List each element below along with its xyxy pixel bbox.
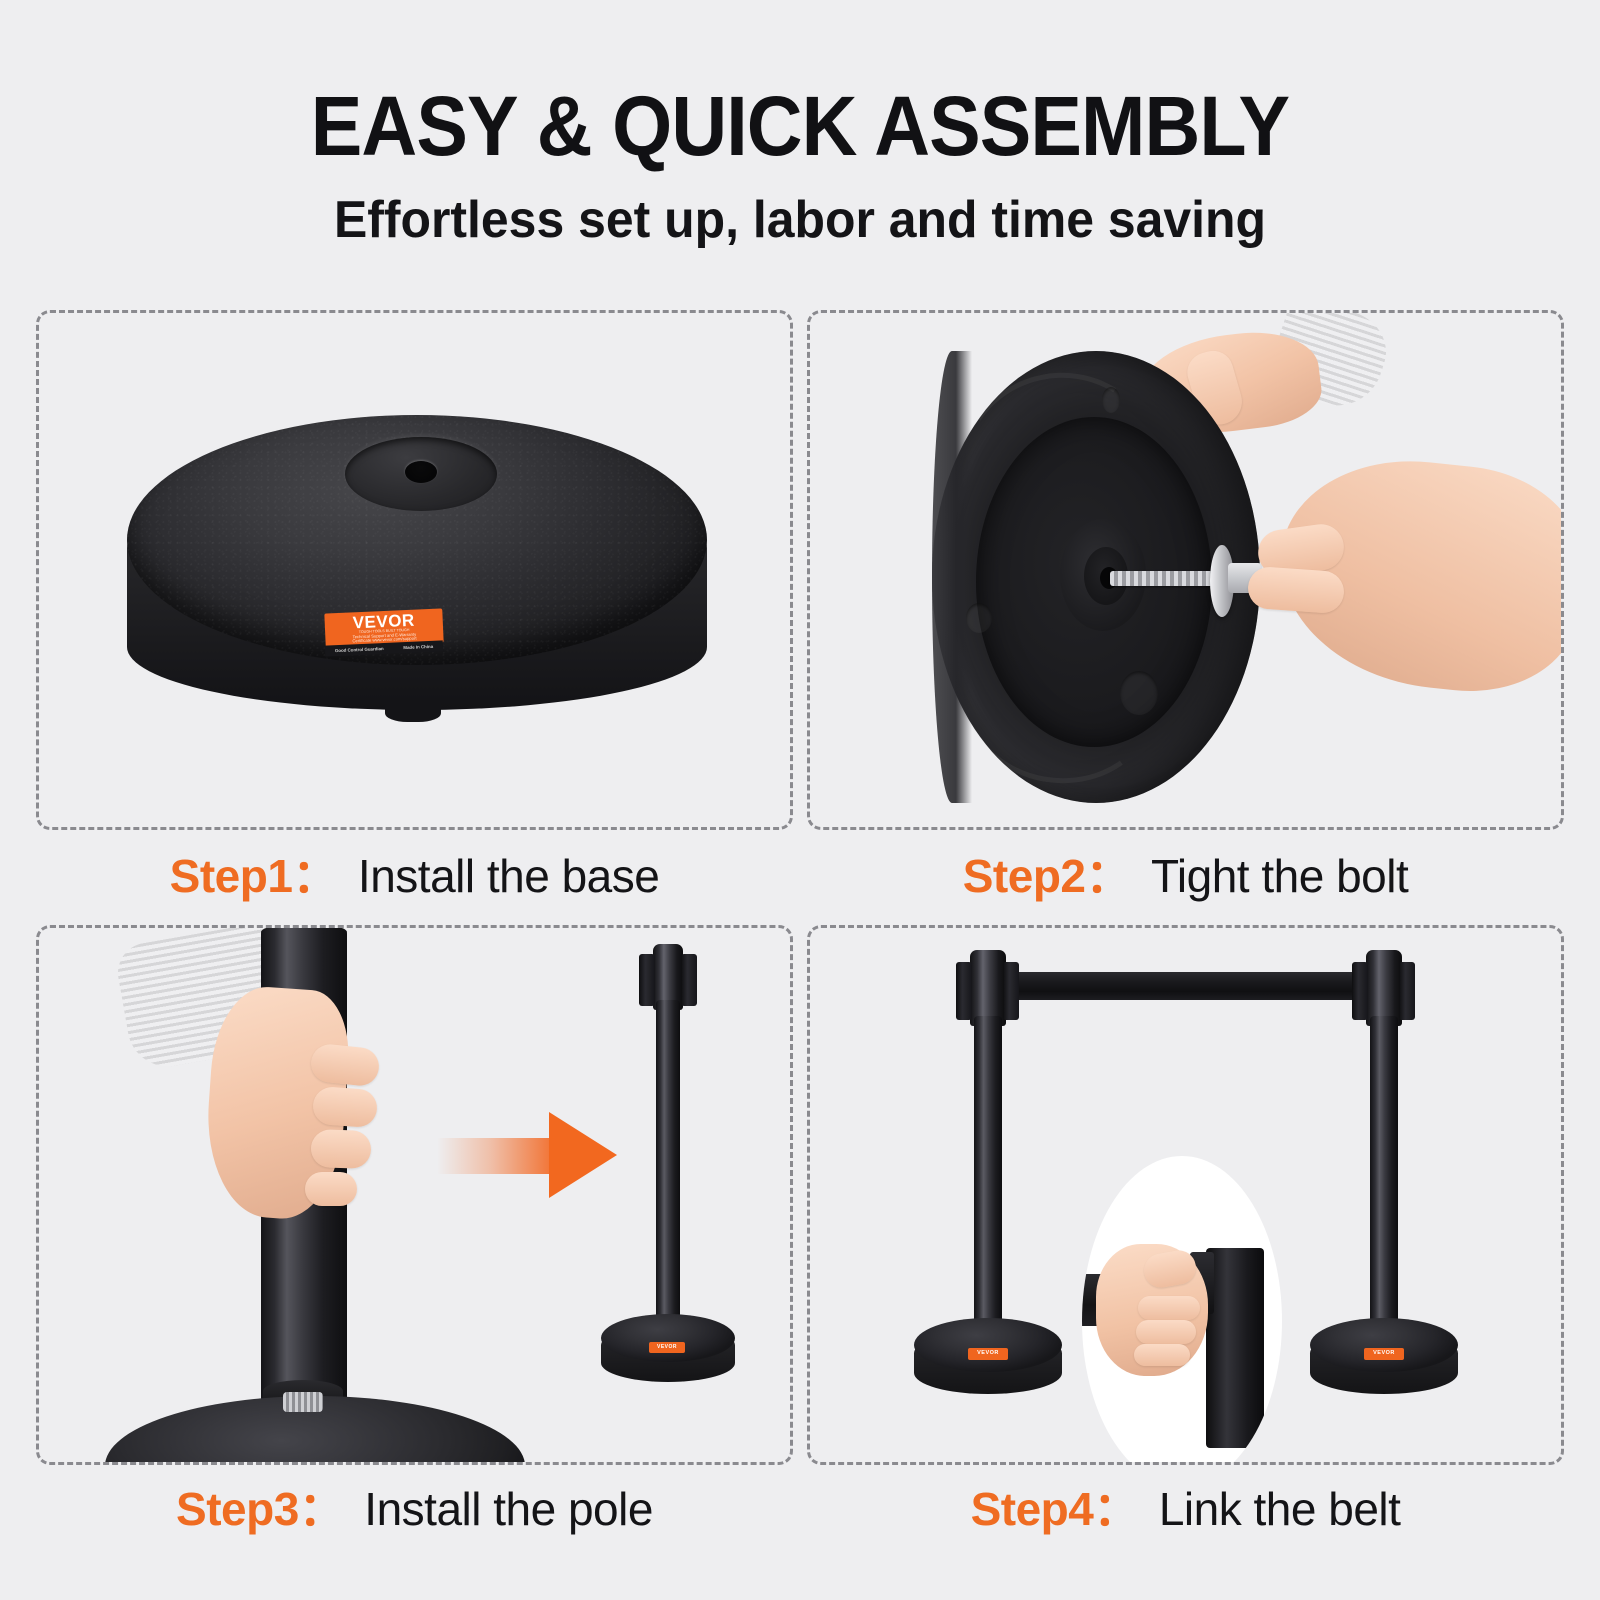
link-belt-illustration: VEVOR VEVOR	[810, 928, 1561, 1462]
step4-key: Step4：	[971, 1478, 1139, 1540]
right-base-top	[1310, 1318, 1458, 1372]
lower-index-finger	[1247, 566, 1346, 615]
step1-caption: Step1： Install the base	[36, 845, 793, 907]
install-pole-illustration: VEVOR TOUGH TOOLS BUILT TOUGH Good Contr…	[39, 928, 790, 1462]
step2-image-panel	[807, 310, 1564, 830]
left-base-top	[914, 1318, 1062, 1372]
stanchion-belt-cassette-right	[681, 954, 697, 1006]
assembly-infographic: EASY & QUICK ASSEMBLY Effortless set up,…	[0, 0, 1600, 1600]
inset-finger-1	[1138, 1296, 1200, 1320]
locking-screw	[283, 1392, 323, 1412]
vevor-sticker-mini-3: VEVOR	[649, 1342, 685, 1353]
inset-belt-cassette	[1206, 1248, 1264, 1448]
right-cassette-a	[1352, 962, 1368, 1020]
left-stanchion-pole	[974, 1016, 1002, 1350]
step4-caption: Step4： Link the belt	[807, 1478, 1564, 1540]
step3-key: Step3：	[176, 1478, 344, 1540]
left-cassette-b	[1003, 962, 1019, 1020]
step3-image-panel: VEVOR TOUGH TOOLS BUILT TOUGH Good Contr…	[36, 925, 793, 1465]
right-stanchion-pole	[1370, 1016, 1398, 1350]
base-disc-rim	[932, 351, 972, 803]
vevor-sticker-left: VEVOR	[968, 1348, 1008, 1360]
grip-finger-3	[310, 1129, 371, 1169]
right-cassette-b	[1399, 962, 1415, 1020]
step3-label: Install the pole	[364, 1478, 653, 1540]
step4-label: Link the belt	[1159, 1478, 1401, 1540]
inset-finger-2	[1136, 1320, 1196, 1344]
vevor-footer-right: Made In China	[403, 644, 433, 650]
vevor-sticker-right: VEVOR	[1364, 1348, 1404, 1360]
base-dimple-1	[966, 603, 992, 633]
step1-image-panel: VEVOR TOUGH TOOLS BUILT TOUGH Technical …	[36, 310, 793, 830]
arrow-head	[549, 1112, 617, 1198]
base-disc-illustration: VEVOR TOUGH TOOLS BUILT TOUGH Technical …	[39, 313, 790, 827]
belt-clip-closeup-inset	[1082, 1156, 1282, 1465]
page-subtitle: Effortless set up, labor and time saving	[32, 168, 1568, 246]
arrow-tail	[437, 1138, 557, 1174]
vevor-right-name: VEVOR	[1373, 1351, 1395, 1357]
vevor-left-name: VEVOR	[977, 1351, 999, 1357]
left-cassette-a	[956, 962, 972, 1020]
left-stanchion-cap	[970, 950, 1006, 1026]
step1-label: Install the base	[358, 845, 659, 907]
step1-key: Step1：	[170, 845, 338, 907]
right-arrow-icon	[437, 1112, 617, 1198]
step4-image-panel: VEVOR VEVOR	[807, 925, 1564, 1465]
step2-caption: Step2： Tight the bolt	[807, 845, 1564, 907]
right-stanchion-cap	[1366, 950, 1402, 1026]
page-title: EASY & QUICK ASSEMBLY	[64, 0, 1536, 168]
base-foot	[385, 700, 441, 722]
stanchion-pole	[656, 1000, 680, 1348]
grip-finger-4	[305, 1172, 357, 1206]
inset-finger-3	[1134, 1344, 1190, 1366]
vevor-footer-left: Good Control Guardian	[335, 646, 384, 653]
step2-label: Tight the bolt	[1151, 845, 1408, 907]
base-dimple-2	[1102, 387, 1120, 413]
step3-caption: Step3： Install the pole	[36, 1478, 793, 1540]
stanchion-base-top	[601, 1314, 735, 1362]
retractable-belt	[988, 972, 1390, 1000]
step2-key: Step2：	[963, 845, 1131, 907]
header: EASY & QUICK ASSEMBLY Effortless set up,…	[0, 0, 1600, 246]
base-bolt-hole	[405, 461, 437, 483]
tighten-bolt-illustration	[810, 313, 1561, 827]
grip-finger-2	[312, 1086, 378, 1128]
vevor-mini-3-name: VEVOR	[657, 1345, 677, 1350]
base-dimple-3	[1120, 671, 1158, 715]
stanchion-belt-cassette-left	[639, 954, 655, 1006]
